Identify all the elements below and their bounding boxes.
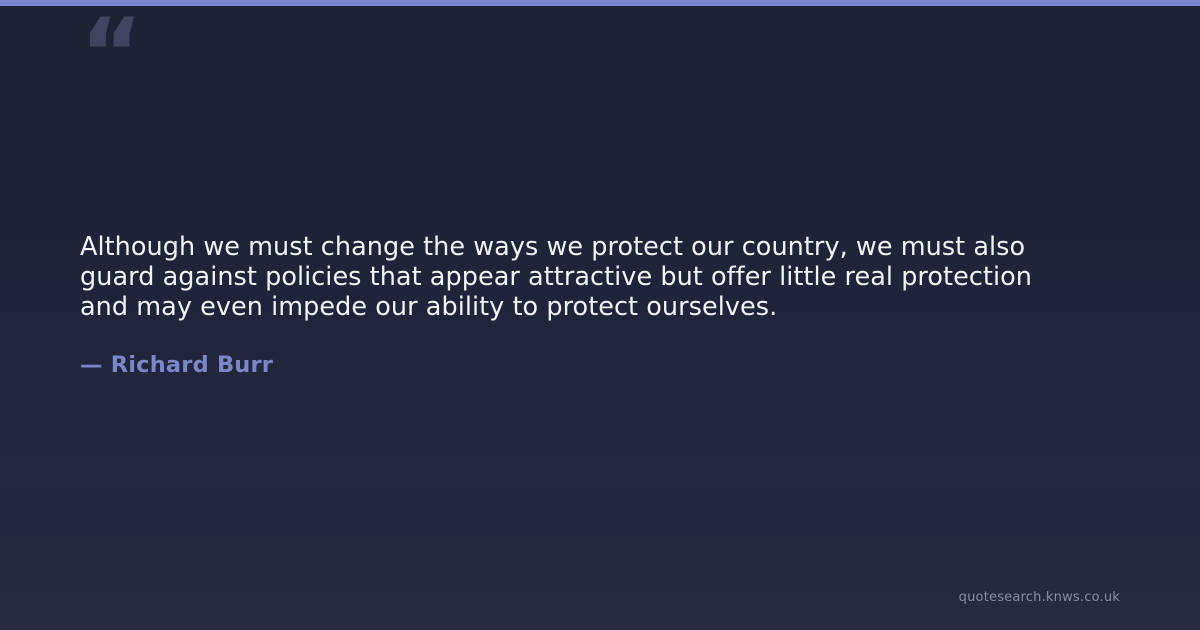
quote-content: Although we must change the ways we prot… <box>80 232 1120 379</box>
quote-author: — Richard Burr <box>80 322 1120 379</box>
quote-text: Although we must change the ways we prot… <box>80 232 1080 322</box>
site-url-label: quotesearch.knws.co.uk <box>959 590 1120 605</box>
footer: quotesearch.knws.co.uk <box>959 586 1120 606</box>
quotation-mark-icon: “ <box>80 6 200 102</box>
quote-card: “ Although we must change the ways we pr… <box>0 0 1200 630</box>
